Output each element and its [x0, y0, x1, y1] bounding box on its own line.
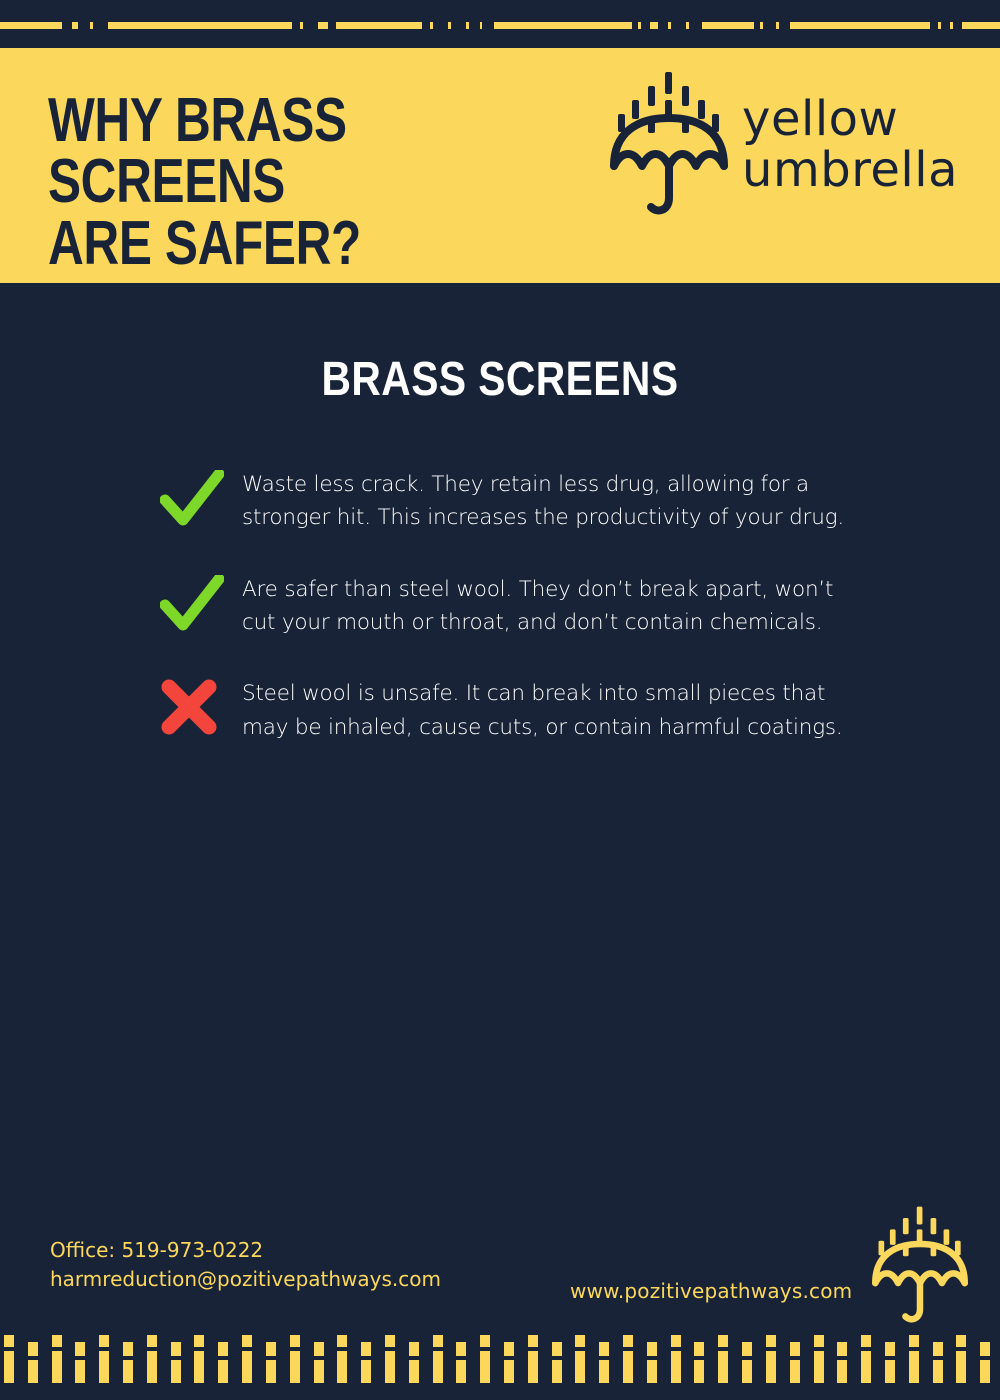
bottom-bar — [599, 1360, 609, 1383]
bottom-bar — [504, 1360, 514, 1383]
bottom-bar-cap — [171, 1342, 181, 1356]
top-rule-dash — [90, 22, 93, 29]
bottom-bar-cap — [480, 1335, 490, 1347]
check-icon — [160, 470, 242, 532]
bottom-bar-cap — [314, 1342, 324, 1356]
bottom-bar-cap — [147, 1335, 157, 1347]
bottom-bar-cap — [28, 1342, 38, 1356]
bottom-bar — [766, 1351, 776, 1383]
top-rule-dash — [0, 22, 62, 29]
top-rule-dash — [686, 22, 689, 29]
list-item: Steel wool is unsafe. It can break into … — [160, 677, 860, 744]
bottom-bar — [337, 1351, 347, 1383]
bottom-bar — [790, 1360, 800, 1383]
top-rule-dash — [466, 22, 469, 29]
top-rule-dash — [72, 22, 78, 29]
list-item-text: Are safer than steel wool. They don’t br… — [242, 573, 860, 640]
bottom-bar — [623, 1351, 633, 1383]
bottom-bar-cap — [456, 1342, 466, 1356]
top-rule-dash — [702, 22, 754, 29]
bottom-bar — [742, 1360, 752, 1383]
bottom-bar-cap — [742, 1342, 752, 1356]
top-rule-dash — [448, 22, 451, 29]
bottom-bar-cap — [99, 1335, 109, 1347]
top-rule-dash — [318, 22, 328, 29]
bottom-bar — [433, 1351, 443, 1383]
bottom-bar-cap — [290, 1335, 300, 1347]
top-rule-dash — [650, 22, 658, 29]
bottom-bar — [647, 1360, 657, 1383]
bottom-bar — [290, 1351, 300, 1383]
bottom-bar-cap — [575, 1335, 585, 1347]
bottom-bar — [933, 1360, 943, 1383]
bottom-bar — [956, 1351, 966, 1383]
bottom-bar-cap — [861, 1335, 871, 1347]
bottom-bar — [980, 1360, 990, 1383]
header-band: WHY BRASS SCREENS ARE SAFER? — [0, 48, 1000, 283]
bottom-bar-cap — [337, 1335, 347, 1347]
website-url[interactable]: www.pozitivepathways.com — [570, 1279, 852, 1303]
bottom-bar — [552, 1360, 562, 1383]
bottom-bar-cap — [433, 1335, 443, 1347]
list-item: Waste less crack. They retain less drug,… — [160, 468, 860, 535]
bottom-bar — [837, 1360, 847, 1383]
bottom-bar-cap — [242, 1335, 252, 1347]
brand-wordmark: yellow umbrella — [742, 94, 958, 196]
bottom-bar-cap — [194, 1335, 204, 1347]
bottom-bar — [242, 1351, 252, 1383]
bottom-bar — [52, 1351, 62, 1383]
bottom-decor-bars — [0, 1330, 1000, 1400]
bottom-bar — [147, 1351, 157, 1383]
top-rule-dash — [668, 22, 671, 29]
top-decor-band — [0, 0, 1000, 48]
bottom-bar-cap — [933, 1342, 943, 1356]
bottom-bar — [885, 1360, 895, 1383]
check-icon — [160, 575, 242, 637]
bottom-bar-cap — [837, 1342, 847, 1356]
list-item-text: Steel wool is unsafe. It can break into … — [242, 677, 860, 744]
bottom-bar-cap — [694, 1342, 704, 1356]
top-rule-dash — [494, 22, 632, 29]
bottom-bar-cap — [75, 1342, 85, 1356]
bottom-bar — [194, 1351, 204, 1383]
bottom-bar-cap — [218, 1342, 228, 1356]
poster-root: WHY BRASS SCREENS ARE SAFER? — [0, 0, 1000, 1400]
bottom-bar-cap — [266, 1342, 276, 1356]
benefits-list: Waste less crack. They retain less drug,… — [160, 468, 860, 782]
top-rule-dash — [638, 22, 641, 29]
bottom-bar — [861, 1351, 871, 1383]
brand-logo: yellow umbrella — [610, 70, 958, 220]
footer-contact-block: Office: 519-973-0222 harmreduction@pozit… — [50, 1236, 441, 1294]
bottom-bar-cap — [552, 1342, 562, 1356]
bottom-bar — [171, 1360, 181, 1383]
bottom-bar — [266, 1360, 276, 1383]
bottom-bar — [480, 1351, 490, 1383]
bottom-bar-cap — [647, 1342, 657, 1356]
bottom-bar-cap — [623, 1335, 633, 1347]
bottom-bar — [694, 1360, 704, 1383]
bottom-bar — [4, 1351, 14, 1383]
bottom-bar-cap — [790, 1342, 800, 1356]
bottom-bar — [409, 1360, 419, 1383]
top-rule-dash — [300, 22, 303, 29]
bottom-bar-cap — [123, 1342, 133, 1356]
office-phone[interactable]: Office: 519-973-0222 — [50, 1236, 441, 1265]
bottom-bar-cap — [885, 1342, 895, 1356]
bottom-bar-cap — [4, 1335, 14, 1347]
top-rule-dash — [760, 22, 763, 29]
top-rule-dash — [430, 22, 433, 29]
bottom-bar-cap — [504, 1342, 514, 1356]
bottom-bar — [528, 1351, 538, 1383]
bottom-bar — [814, 1351, 824, 1383]
bottom-bar — [218, 1360, 228, 1383]
bottom-bar — [909, 1351, 919, 1383]
bottom-bar-cap — [909, 1335, 919, 1347]
bottom-bar-cap — [814, 1335, 824, 1347]
bottom-bar-cap — [718, 1335, 728, 1347]
contact-email[interactable]: harmreduction@pozitivepathways.com — [50, 1265, 441, 1294]
bottom-bar — [385, 1351, 395, 1383]
bottom-bar-cap — [409, 1342, 419, 1356]
list-item: Are safer than steel wool. They don’t br… — [160, 573, 860, 640]
umbrella-icon — [610, 70, 728, 220]
page-title: WHY BRASS SCREENS ARE SAFER? — [48, 90, 512, 274]
bottom-bar-cap — [980, 1342, 990, 1356]
top-rule-dash — [790, 22, 930, 29]
bottom-bar-cap — [52, 1335, 62, 1347]
top-rule-dash — [950, 22, 953, 29]
bottom-bar — [99, 1351, 109, 1383]
bottom-bar-cap — [528, 1335, 538, 1347]
bottom-bar-cap — [361, 1342, 371, 1356]
top-rule-dash — [962, 22, 1000, 29]
top-rule-dash — [108, 22, 292, 29]
top-rule-dash — [938, 22, 941, 29]
section-title: BRASS SCREENS — [75, 352, 925, 407]
bottom-bar — [123, 1360, 133, 1383]
bottom-bar — [75, 1360, 85, 1383]
bottom-bar-cap — [599, 1342, 609, 1356]
bottom-bar — [456, 1360, 466, 1383]
top-dashed-rule — [0, 22, 1000, 29]
bottom-bar-cap — [956, 1335, 966, 1347]
bottom-bar — [671, 1351, 681, 1383]
bottom-bar — [361, 1360, 371, 1383]
list-item-text: Waste less crack. They retain less drug,… — [242, 468, 860, 535]
bottom-bar — [718, 1351, 728, 1383]
bottom-bar — [575, 1351, 585, 1383]
top-rule-dash — [336, 22, 422, 29]
footer-umbrella-icon — [872, 1205, 968, 1313]
bottom-bar — [314, 1360, 324, 1383]
bottom-bar — [28, 1360, 38, 1383]
cross-icon — [160, 679, 242, 741]
bottom-bar-cap — [671, 1335, 681, 1347]
top-rule-dash — [776, 22, 779, 29]
bottom-bar-cap — [766, 1335, 776, 1347]
bottom-bar-cap — [385, 1335, 395, 1347]
top-rule-dash — [480, 22, 482, 29]
